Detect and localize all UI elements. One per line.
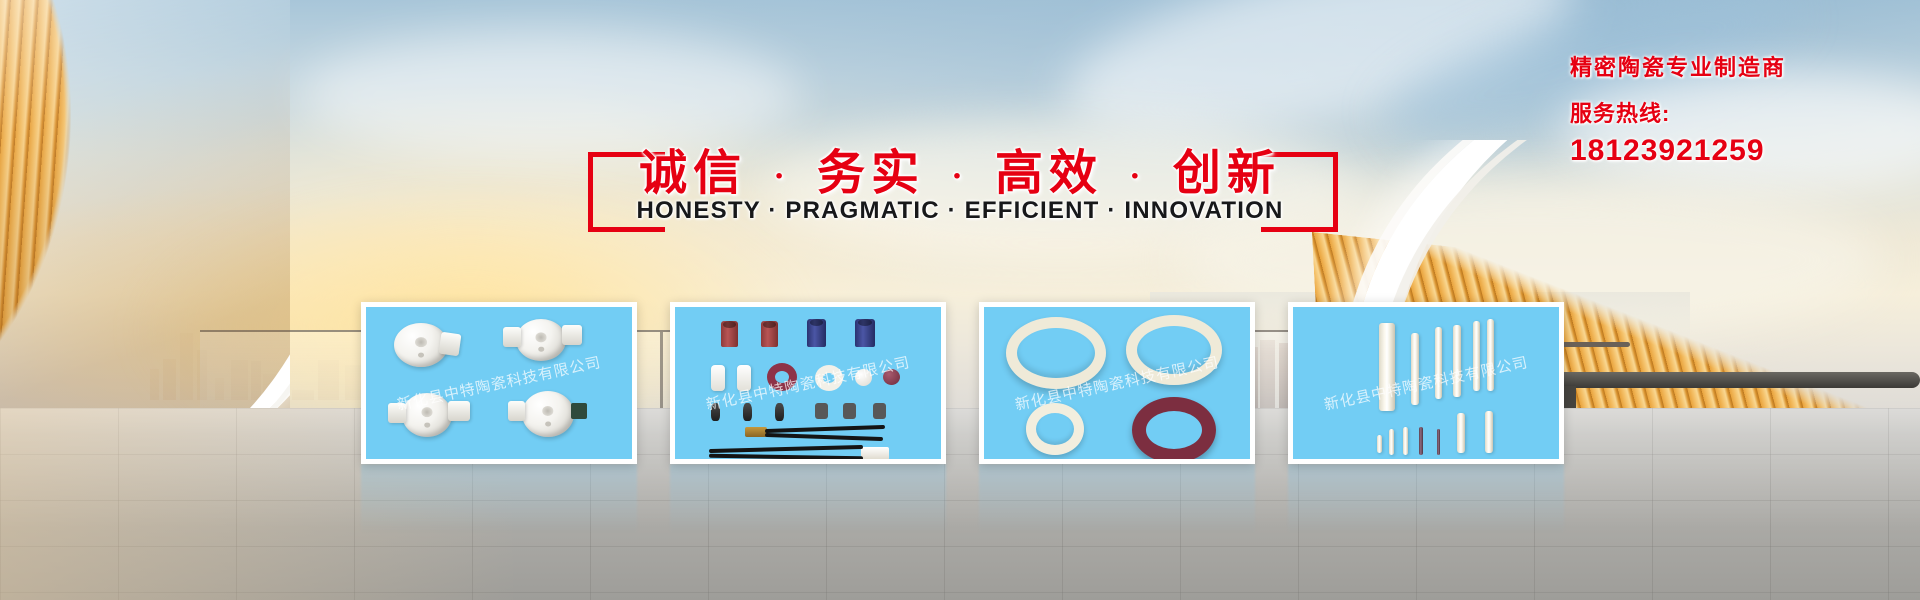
ceramic-lamp-socket (516, 319, 566, 361)
socket-mounting-tab (388, 403, 406, 423)
hotline-label: 服务热线: (1570, 96, 1786, 128)
cream-ceramic-ring-small (1026, 403, 1084, 455)
metal-clip (743, 403, 752, 421)
promotional-banner: 诚信 · 务实 · 高效 · 创新 HONESTY · PRAGMATIC · … (0, 0, 1920, 600)
contact-block: 精密陶瓷专业制造商 服务热线: 18123921259 (1570, 50, 1786, 168)
ceramic-rod (1487, 319, 1494, 391)
socket-mounting-tab (562, 325, 582, 345)
white-ceramic-plate (711, 365, 725, 391)
metal-clip (711, 403, 720, 421)
socket-terminal (571, 403, 587, 419)
panel-reflections (361, 464, 1581, 534)
white-connector (861, 447, 889, 459)
product-panel-4[interactable]: 新化县中特陶瓷科技有限公司 (1288, 302, 1564, 464)
panel-reflection (1288, 464, 1564, 534)
slogan-separator: · (1126, 159, 1150, 194)
socket-mounting-tab (503, 327, 521, 347)
ceramic-lamp-socket (402, 393, 452, 437)
cream-ceramic-ring-large (1006, 317, 1106, 389)
panel-3-canvas: 新化县中特陶瓷科技有限公司 (984, 307, 1250, 459)
ceramic-rod (1411, 333, 1419, 405)
socket-mounting-tab (508, 401, 525, 421)
slogan-separator: · (770, 159, 794, 194)
metal-clip (775, 403, 784, 421)
blue-ceramic-tube (807, 319, 826, 347)
ceramic-pin-small (1377, 435, 1382, 453)
slogan-separator: · (948, 159, 972, 194)
ceramic-lamp-socket (522, 391, 574, 437)
product-panel-3[interactable]: 新化县中特陶瓷科技有限公司 (979, 302, 1255, 464)
slogan-word-1: 诚信 (639, 145, 747, 201)
product-panel-2[interactable]: 新化县中特陶瓷科技有限公司 (670, 302, 946, 464)
dark-ceramic-pin (1419, 427, 1423, 455)
blue-ceramic-tube (855, 319, 875, 347)
product-panel-1[interactable]: 新化县中特陶瓷科技有限公司 (361, 302, 637, 464)
ceramic-rod (1435, 327, 1442, 399)
white-ceramic-plate (737, 365, 751, 391)
grey-terminal (873, 403, 886, 419)
black-wire (709, 454, 863, 459)
black-wire (709, 445, 863, 453)
ceramic-pin-small (1389, 429, 1394, 455)
brass-connector (745, 427, 767, 437)
hotline-number[interactable]: 18123921259 (1570, 134, 1786, 168)
panel-4-canvas: 新化县中特陶瓷科技有限公司 (1293, 307, 1559, 459)
slogan-word-4: 创新 (1173, 145, 1281, 201)
ceramic-rod (1453, 325, 1461, 397)
ceramic-rod (1473, 321, 1480, 391)
black-wire (765, 425, 885, 433)
slogan-english: HONESTY · PRAGMATIC · EFFICIENT · INNOVA… (0, 197, 1920, 225)
product-panel-group: 新化县中特陶瓷科技有限公司 (361, 302, 1581, 464)
panel-reflection (361, 464, 637, 534)
red-ceramic-tube (761, 321, 778, 347)
panel-reflection (670, 464, 946, 534)
panel-2-canvas: 新化县中特陶瓷科技有限公司 (675, 307, 941, 459)
panel-reflection (979, 464, 1255, 534)
white-ceramic-cap (855, 369, 872, 386)
slogan-word-3: 高效 (995, 145, 1103, 201)
red-ceramic-cap (883, 369, 900, 385)
grey-terminal (815, 403, 828, 419)
black-wire (765, 433, 883, 441)
cream-ceramic-ring-large (1126, 315, 1222, 385)
slogan-word-2: 务实 (817, 145, 925, 201)
grey-terminal (843, 403, 856, 419)
socket-body (439, 332, 462, 357)
ceramic-rod-thick (1379, 323, 1395, 411)
watermark: 新化县中特陶瓷科技有限公司 (1322, 351, 1530, 415)
maroon-ceramic-ring (1132, 397, 1216, 459)
white-ceramic-ring (815, 365, 843, 391)
socket-mounting-tab (448, 401, 470, 421)
dark-ceramic-pin (1437, 429, 1440, 455)
red-ceramic-ring (767, 363, 797, 391)
company-tagline: 精密陶瓷专业制造商 (1570, 50, 1786, 82)
ceramic-pin-small (1403, 427, 1408, 455)
red-ceramic-tube (721, 321, 738, 347)
ceramic-rod-short (1457, 413, 1465, 453)
ceramic-rod-short (1485, 411, 1493, 453)
panel-1-canvas: 新化县中特陶瓷科技有限公司 (366, 307, 632, 459)
